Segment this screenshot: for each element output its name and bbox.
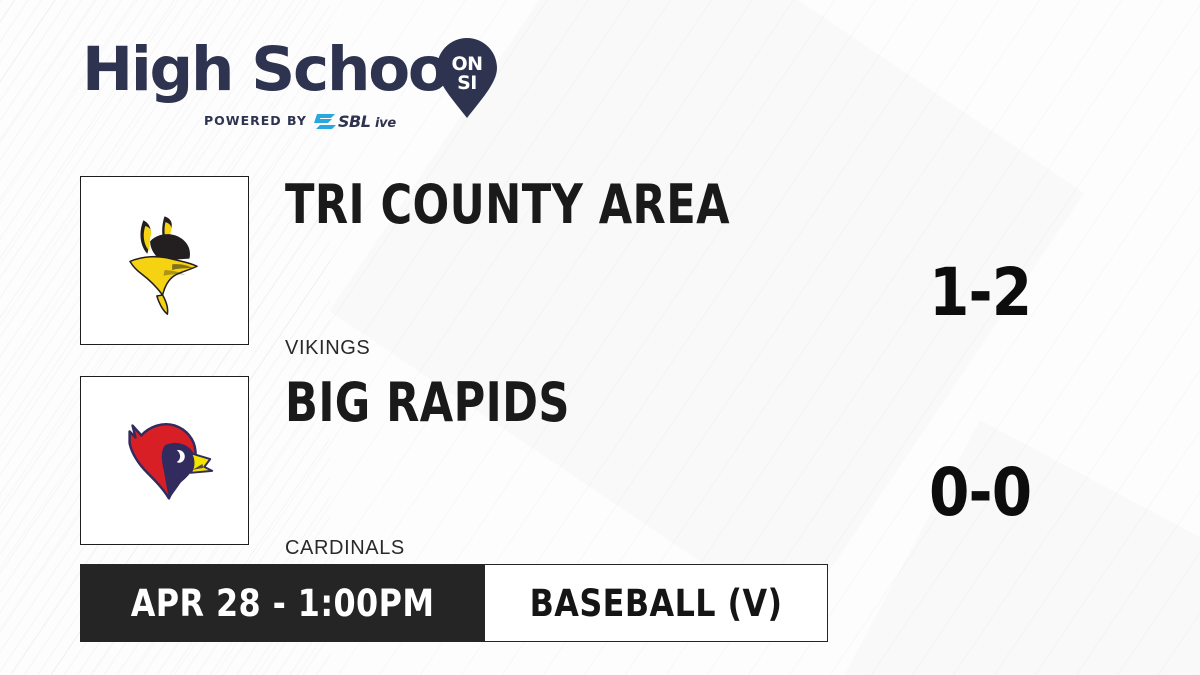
svg-text:ive: ive — [375, 116, 396, 130]
svg-text:SI: SI — [457, 72, 477, 94]
brand-logo: High School ON SI POWERED BY SBL ive — [82, 34, 512, 138]
brand-wordmark: High School — [82, 34, 466, 106]
game-sport-text: BASEBALL (V) — [530, 582, 783, 625]
powered-by-row: POWERED BY SBL ive — [204, 110, 410, 130]
game-datetime-text: APR 28 - 1:00PM — [131, 582, 435, 625]
team-record-1: 1-2 — [929, 258, 1031, 328]
vikings-logo — [107, 203, 222, 318]
team-name-2: BIG RAPIDS — [285, 375, 570, 431]
game-info-banner: APR 28 - 1:00PM BASEBALL (V) — [80, 564, 828, 642]
game-datetime-block: APR 28 - 1:00PM — [80, 564, 485, 642]
team-name-1: TRI COUNTY AREA — [285, 177, 730, 233]
matchup-graphic: High School ON SI POWERED BY SBL ive — [0, 0, 1200, 675]
team-record-2: 0-0 — [929, 458, 1031, 528]
powered-by-label: POWERED BY — [204, 113, 307, 128]
team-mascot-1: VIKINGS — [285, 337, 370, 360]
sblive-logo: SBL ive — [314, 110, 410, 130]
team-logo-box-2 — [80, 376, 249, 545]
game-sport-block: BASEBALL (V) — [485, 564, 828, 642]
on-si-pin-icon: ON SI — [436, 37, 498, 119]
team-mascot-2: CARDINALS — [285, 537, 405, 560]
svg-text:SBL: SBL — [338, 112, 371, 130]
cardinals-logo — [106, 402, 224, 520]
team-logo-box-1 — [80, 176, 249, 345]
